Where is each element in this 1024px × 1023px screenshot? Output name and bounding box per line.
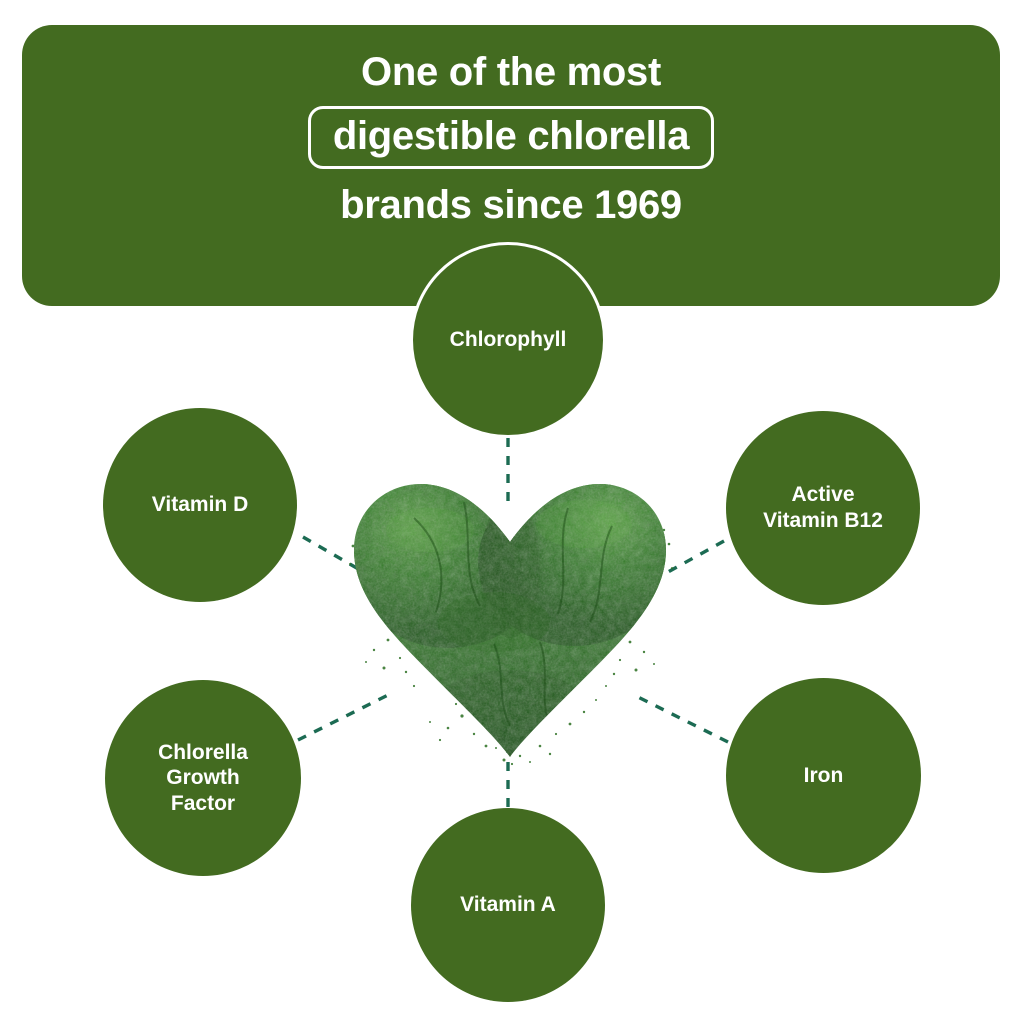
nutrient-circle-chlorella-growth-factor[interactable]: Chlorella Growth Factor <box>105 680 301 876</box>
nutrient-circle-iron[interactable]: Iron <box>726 678 921 873</box>
nutrient-label-vitamin-a: Vitamin A <box>450 892 566 918</box>
nutrient-circle-chlorophyll[interactable]: Chlorophyll <box>410 242 606 438</box>
nutrient-label-active-vitamin-b12: Active Vitamin B12 <box>753 482 893 533</box>
nutrient-circle-vitamin-d[interactable]: Vitamin D <box>103 408 297 602</box>
nutrient-label-chlorella-growth-factor: Chlorella Growth Factor <box>148 740 258 817</box>
nutrient-label-b12-line1: Active <box>791 483 854 506</box>
nutrient-label-cgf-line2: Growth <box>166 766 240 789</box>
nutrient-circle-active-vitamin-b12[interactable]: Active Vitamin B12 <box>726 411 920 605</box>
powder-heart-illustration <box>344 472 676 766</box>
nutrient-label-cgf-line1: Chlorella <box>158 741 248 764</box>
heart-edge-fuzz <box>344 472 676 766</box>
infographic-canvas: One of the most digestible chlorella bra… <box>0 0 1024 1023</box>
nutrient-circle-vitamin-a[interactable]: Vitamin A <box>411 808 605 1002</box>
nutrient-label-chlorophyll: Chlorophyll <box>440 327 577 353</box>
nutrient-label-vitamin-d: Vitamin D <box>142 492 258 518</box>
chlorella-powder-heart-image <box>344 472 676 766</box>
nutrient-label-cgf-line3: Factor <box>171 792 235 815</box>
nutrient-label-iron: Iron <box>794 763 854 789</box>
nutrient-label-b12-line2: Vitamin B12 <box>763 509 883 532</box>
